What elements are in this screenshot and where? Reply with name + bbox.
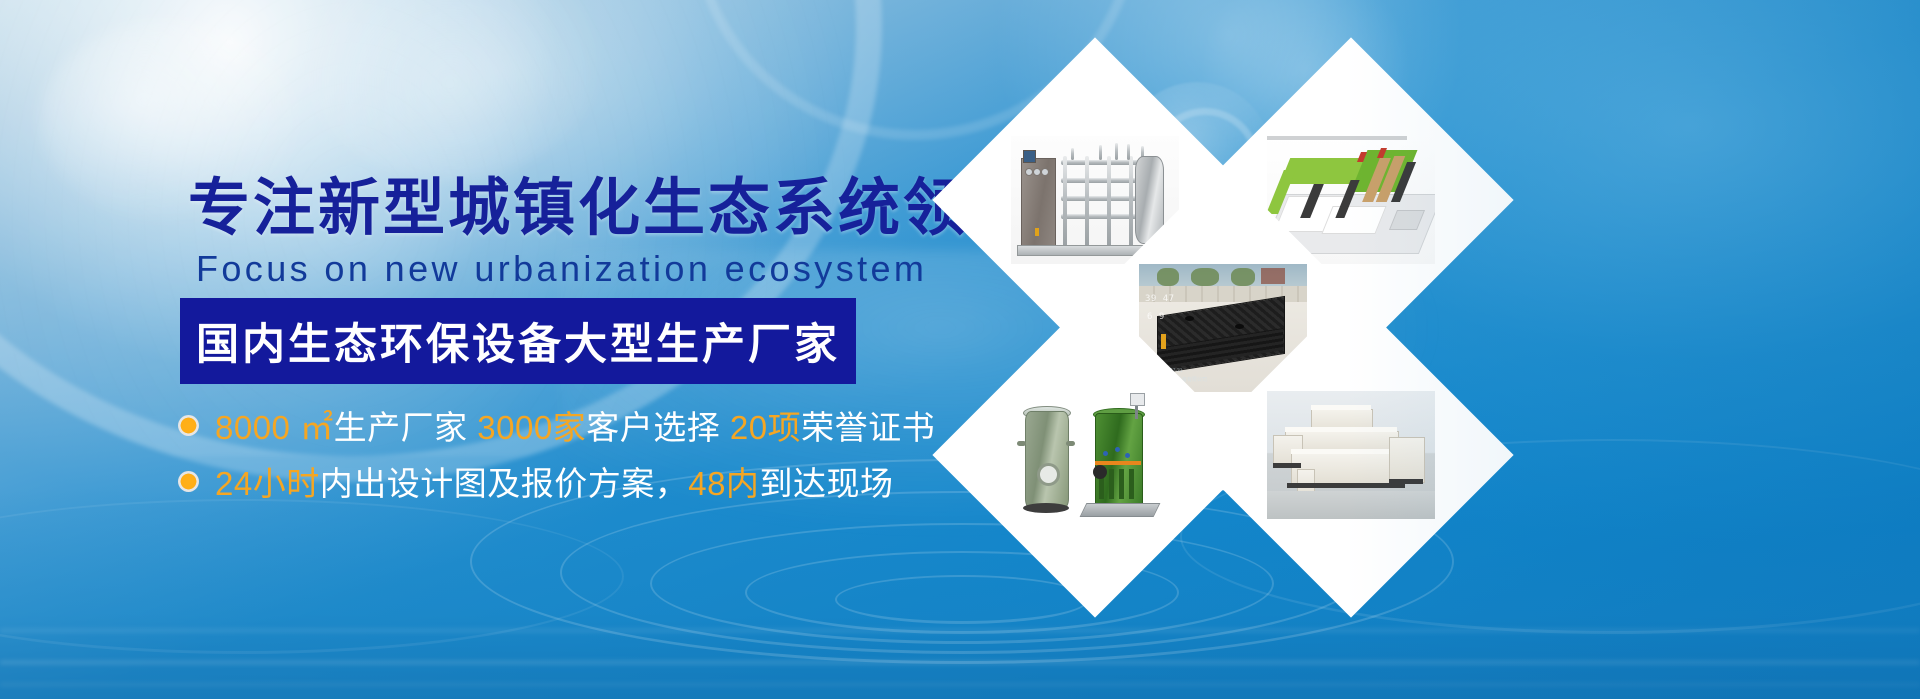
- product-photo-pump-station: [1011, 391, 1179, 519]
- product-photo-aac-panels: [1267, 391, 1435, 519]
- list-item: 8000 ㎡生产厂家 3000家客户选择 20项荣誉证书: [178, 402, 935, 448]
- status-badge-label: 国内生态环保设备大型生产厂家: [196, 310, 840, 372]
- banner-text-block: 专注新型城镇化生态系统领域 Focus on new urbanization …: [0, 0, 930, 699]
- list-item: 24小时内出设计图及报价方案，48内到达现场: [178, 458, 935, 504]
- feature-list: 8000 ㎡生产厂家 3000家客户选择 20项荣誉证书 24小时内出设计图及报…: [178, 402, 935, 514]
- product-gallery: 39 47 6 9 2020-07-21 中国建筑设备有限公司: [900, 40, 1920, 600]
- bullet-dot-icon: [178, 415, 199, 436]
- page-subtitle: Focus on new urbanization ecosystem: [196, 248, 927, 290]
- list-item-label: 8000 ㎡生产厂家 3000家客户选择 20项荣誉证书: [215, 401, 935, 449]
- hero-banner: 专注新型城镇化生态系统领域 Focus on new urbanization …: [0, 0, 1920, 699]
- status-badge: 国内生态环保设备大型生产厂家: [180, 298, 856, 384]
- list-item-label: 24小时内出设计图及报价方案，48内到达现场: [215, 457, 893, 505]
- bullet-dot-icon: [178, 471, 199, 492]
